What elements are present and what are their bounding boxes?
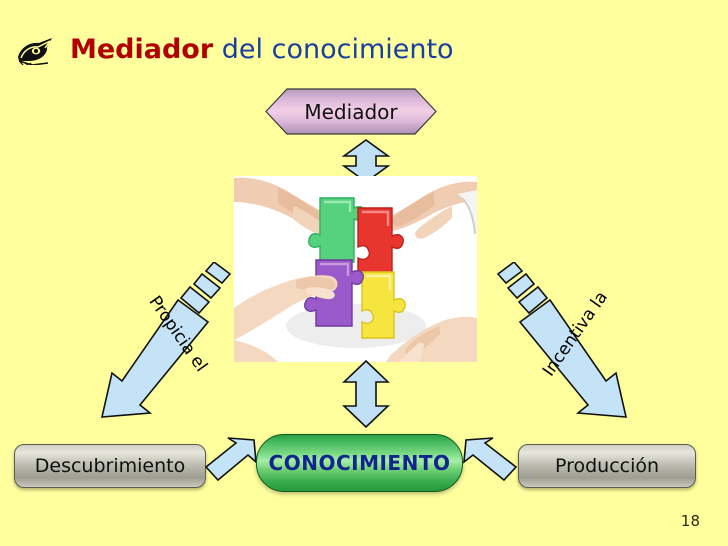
page-title-text: Mediador del conocimiento xyxy=(70,34,454,65)
puzzle-hands-illustration xyxy=(234,176,477,362)
connector-descubrimiento-to-conocimiento xyxy=(204,436,260,486)
pen-nib-icon xyxy=(14,35,56,65)
node-descubrimiento[interactable]: Descubrimiento xyxy=(14,444,206,488)
node-descubrimiento-label: Descubrimiento xyxy=(35,455,185,477)
page-number: 18 xyxy=(681,512,700,530)
center-image-puzzle-hands xyxy=(234,176,477,362)
page-title: Mediador del conocimiento xyxy=(14,34,454,65)
node-mediador[interactable]: Mediador xyxy=(265,88,437,135)
connector-propicia-el: Propicia el xyxy=(98,262,234,422)
striped-arrow-down-left-icon xyxy=(98,262,234,422)
connector-incentiva-la: Incentiva la xyxy=(492,262,632,424)
connector-produccion-to-conocimiento xyxy=(460,436,520,486)
connector-image-to-conocimiento xyxy=(336,360,396,428)
arrow-up-right-icon xyxy=(204,436,260,486)
node-mediador-label: Mediador xyxy=(265,88,437,135)
arrow-up-left-icon xyxy=(460,436,520,486)
node-produccion[interactable]: Producción xyxy=(518,444,696,488)
page-title-main: Mediador xyxy=(70,34,213,65)
node-conocimiento-label: CONOCIMIENTO xyxy=(269,451,451,475)
node-produccion-label: Producción xyxy=(555,455,659,477)
page-title-sub: del conocimiento xyxy=(213,34,453,65)
double-headed-vertical-arrow-icon xyxy=(336,360,396,428)
slide-canvas: Mediador del conocimiento Mediador xyxy=(0,0,728,546)
node-conocimiento[interactable]: CONOCIMIENTO xyxy=(256,434,463,492)
